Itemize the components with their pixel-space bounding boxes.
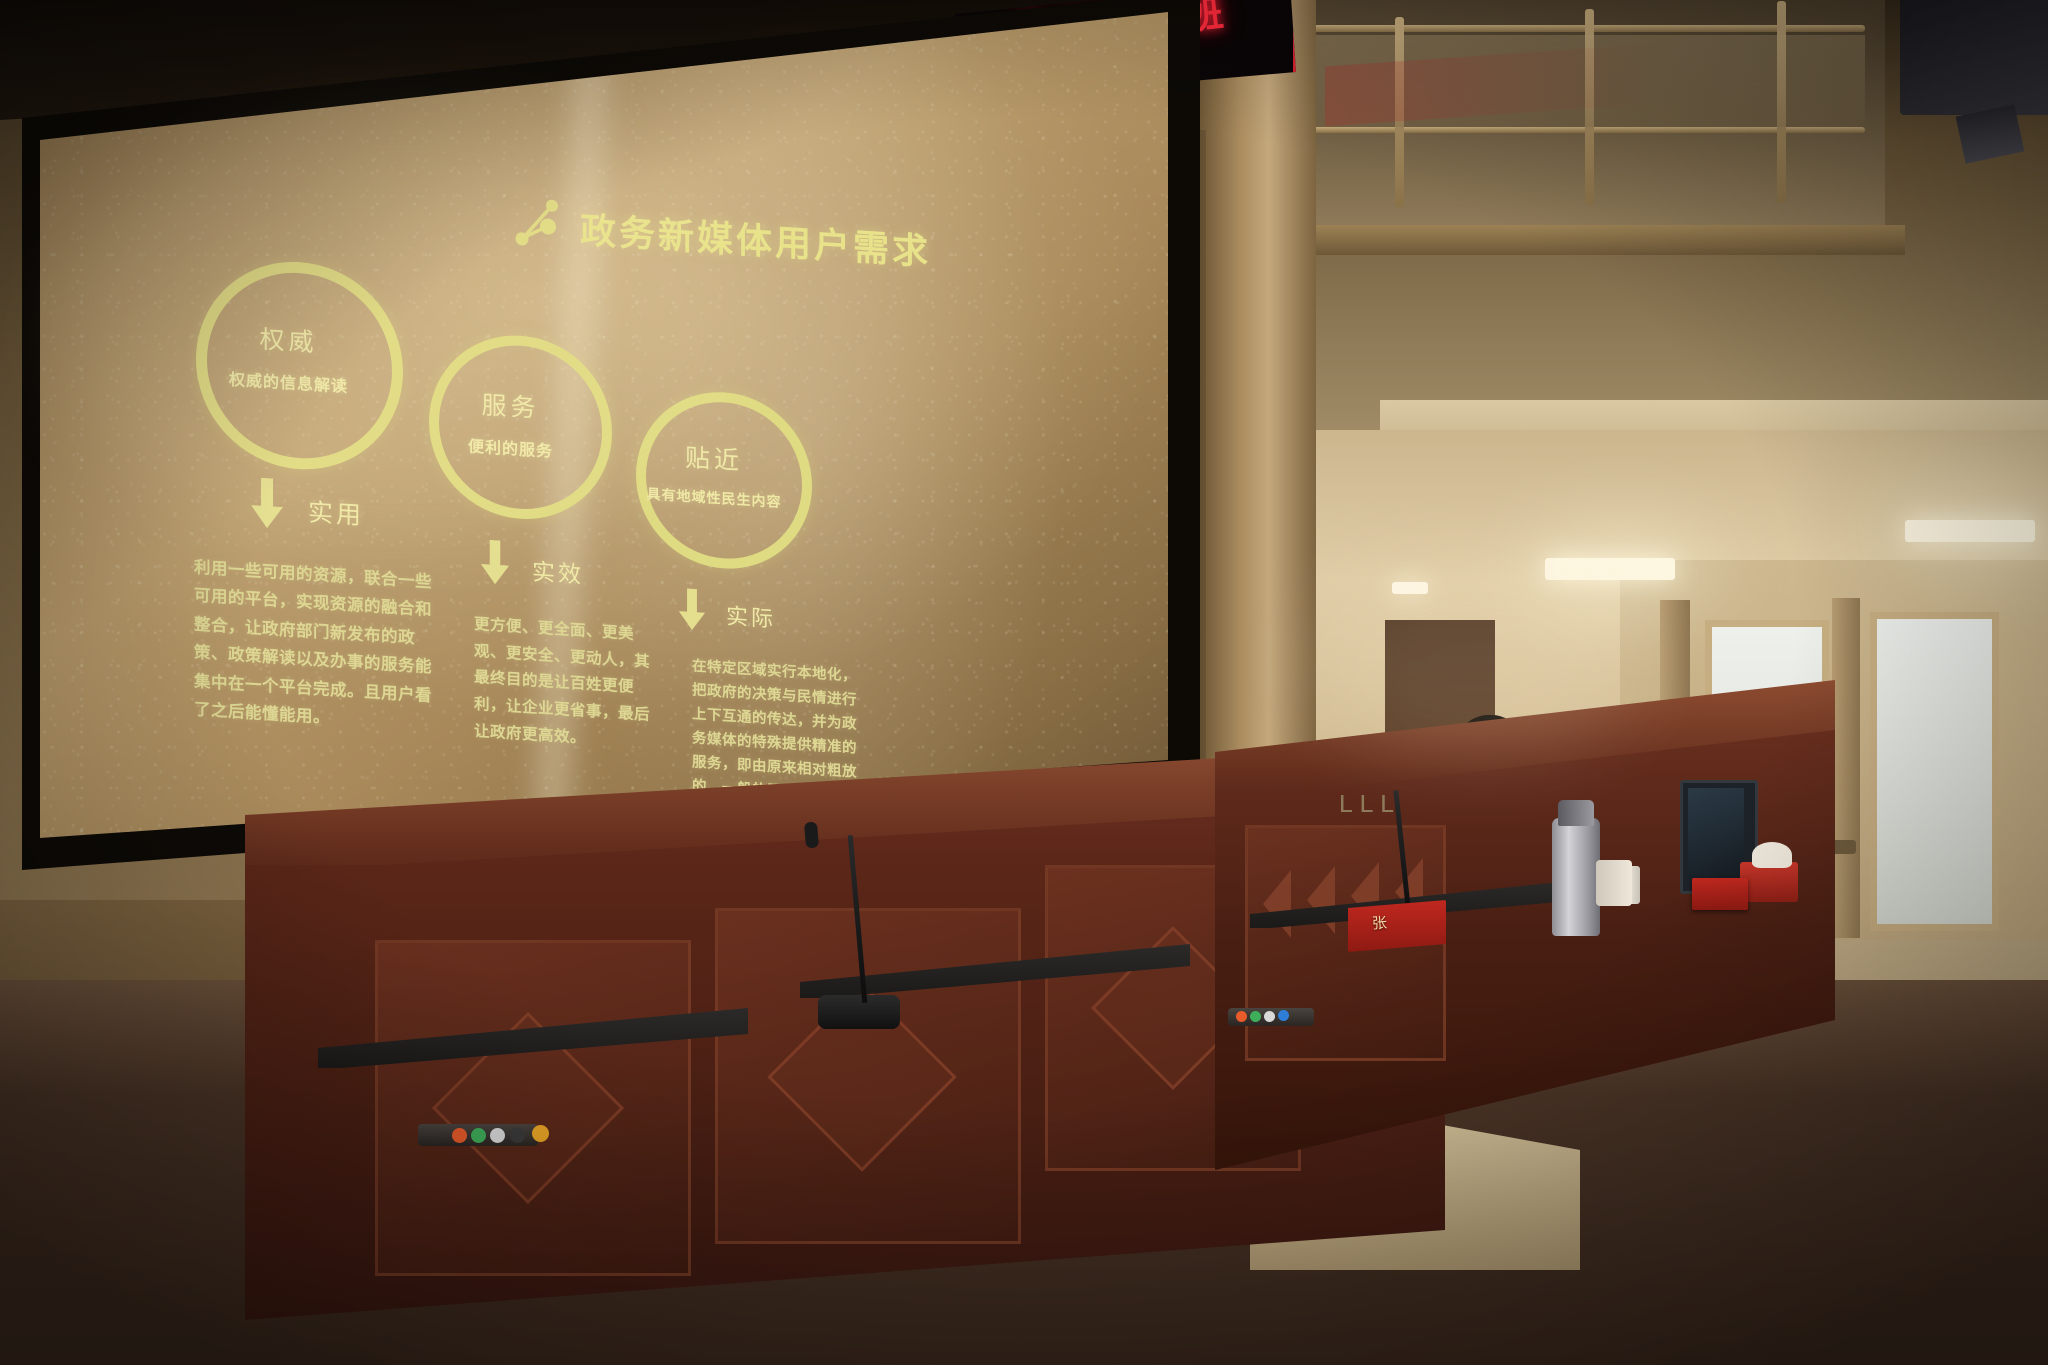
tissue-sheet — [1752, 842, 1792, 868]
control-button-orange[interactable] — [452, 1128, 467, 1143]
share-network-icon — [512, 191, 568, 250]
control-button-orange-2[interactable] — [1236, 1011, 1247, 1022]
ring-proximity-label: 贴近 具有地域性民生内容 — [626, 434, 802, 513]
ceiling-panel-light-3 — [1392, 582, 1428, 594]
glass-door-right[interactable] — [1870, 612, 1999, 931]
control-button-yellow[interactable] — [532, 1125, 549, 1142]
ceiling-speaker — [1900, 0, 2048, 115]
control-button-green[interactable] — [471, 1128, 486, 1143]
monitor-screen — [1688, 788, 1744, 878]
arrow-label-practical: 实用 — [308, 493, 364, 532]
control-button-white-2[interactable] — [1264, 1011, 1275, 1022]
balcony-floor — [1285, 225, 1905, 255]
screenshot-root: 育干培训班 政务新媒体用户需求 权威 权威的信息解读 — [0, 0, 2048, 1365]
tissue-box[interactable] — [1740, 862, 1798, 902]
wall-marking: LLL — [1338, 790, 1400, 820]
slide-title: 政务新媒体用户需求 — [580, 201, 931, 275]
control-button-white[interactable] — [490, 1128, 505, 1143]
name-plate-text: 张 — [1371, 911, 1389, 933]
thermos-flask[interactable] — [1552, 818, 1600, 936]
thermos-cap[interactable] — [1558, 800, 1594, 826]
door-frame-mid — [1832, 598, 1860, 938]
arrow-down-icon-2 — [480, 539, 510, 585]
ceiling-panel-light-2 — [1905, 520, 2035, 542]
control-button-green-2[interactable] — [1250, 1011, 1261, 1022]
name-plate-2 — [1692, 878, 1748, 910]
name-plate — [1348, 900, 1446, 952]
ceiling-panel-light-1 — [1545, 558, 1675, 580]
arrow-down-icon-3 — [678, 588, 706, 632]
paper-cup-2[interactable] — [1596, 860, 1632, 906]
arrow-down-icon-1 — [250, 477, 284, 529]
ring-service-label: 服务 便利的服务 — [429, 382, 592, 464]
wall-pillar — [1198, 0, 1316, 870]
control-button-black[interactable] — [510, 1128, 525, 1143]
paragraph-practical: 利用一些可用的资源，联合一些可用的平台，实现资源的融合和整合，让政府部门新发布的… — [194, 554, 446, 740]
paragraph-effective: 更方便、更全面、更美观、更安全、更动人，其最终目的是让百姓更便利，让企业更省事，… — [474, 611, 664, 756]
control-button-blue[interactable] — [1278, 1010, 1289, 1021]
slide-content: 政务新媒体用户需求 权威 权威的信息解读 服务 便利的服务 贴近 具有地域性民生… — [40, 0, 1168, 842]
projection-screen: 政务新媒体用户需求 权威 权威的信息解读 服务 便利的服务 贴近 具有地域性民生… — [40, 0, 1168, 842]
arrow-label-actual: 实际 — [726, 599, 776, 634]
upper-balcony — [1285, 0, 1885, 236]
arrow-label-effective: 实效 — [532, 553, 584, 590]
ring-authority-label: 权威 权威的信息解读 — [196, 316, 381, 399]
